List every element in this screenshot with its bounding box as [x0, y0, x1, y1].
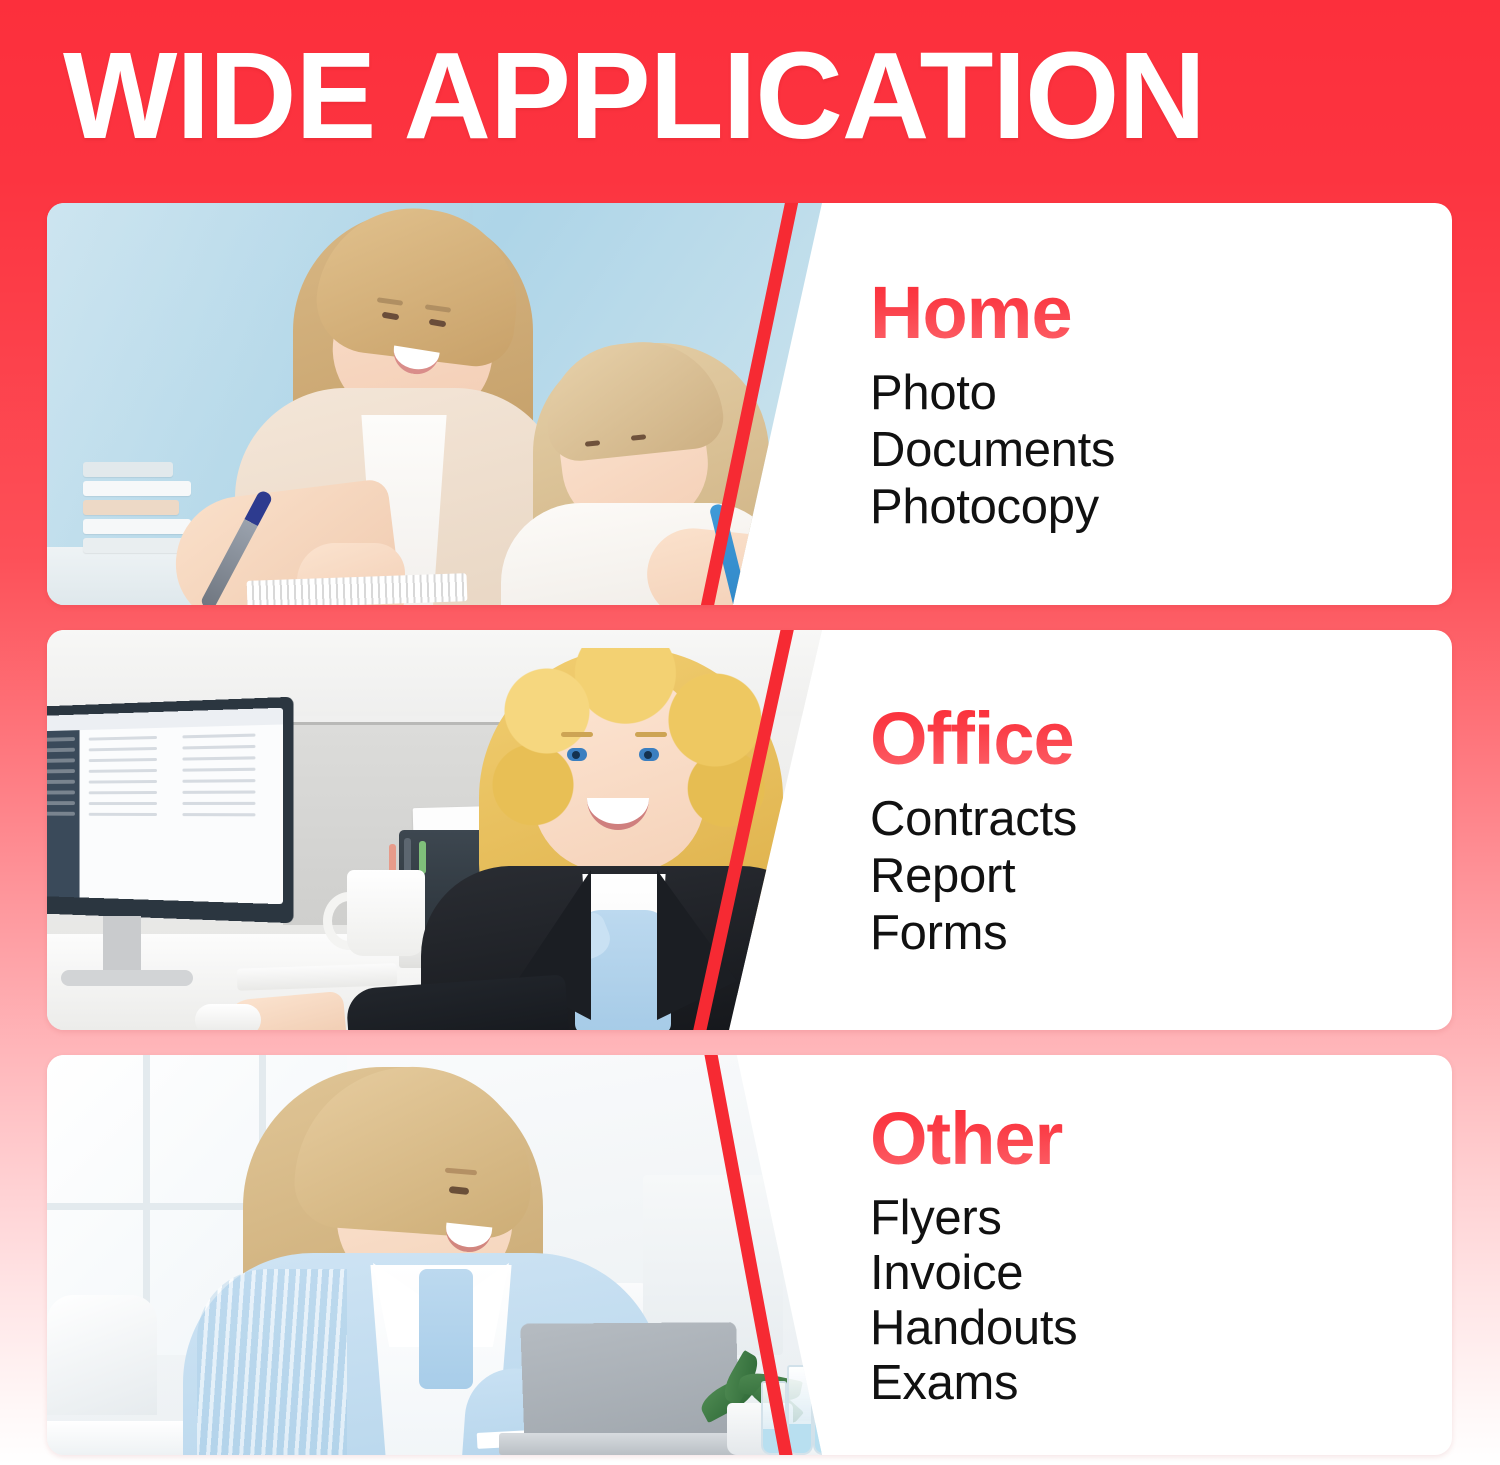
coffee-mug — [347, 870, 425, 956]
card-photo-home — [47, 203, 822, 605]
woman-eye-left — [567, 748, 587, 761]
mouse — [195, 1004, 261, 1030]
poster-header: WIDE APPLICATION — [0, 0, 1500, 195]
list-item: Report — [870, 848, 1452, 905]
list-item: Exams — [870, 1356, 1452, 1411]
wide-application-poster: WIDE APPLICATION — [0, 0, 1500, 1465]
application-card-office: Office Contracts Report Forms — [47, 630, 1452, 1030]
blue-shirt — [419, 1269, 473, 1389]
woman-brow-left — [561, 732, 593, 737]
screen-text-column-left — [89, 736, 157, 824]
list-item: Photocopy — [870, 479, 1452, 536]
scene-office — [47, 630, 822, 1030]
monitor-stand — [103, 916, 141, 974]
pen-cup — [385, 834, 441, 874]
card-info-home: Home Photo Documents Photocopy — [832, 203, 1452, 605]
card-list-other: Flyers Invoice Handouts Exams — [870, 1191, 1452, 1411]
card-info-office: Office Contracts Report Forms — [832, 630, 1452, 1030]
list-item: Handouts — [870, 1301, 1452, 1356]
card-list-home: Photo Documents Photocopy — [870, 365, 1452, 536]
card-list-office: Contracts Report Forms — [870, 791, 1452, 962]
woman-eye-right — [639, 748, 659, 761]
monitor-screen — [47, 708, 283, 904]
application-card-other: Other Flyers Invoice Handouts Exams — [47, 1055, 1452, 1455]
test-tube — [813, 1347, 822, 1455]
lab-chair — [47, 1295, 157, 1415]
list-item: Forms — [870, 905, 1452, 962]
list-item: Invoice — [870, 1246, 1452, 1301]
page-title: WIDE APPLICATION — [63, 38, 1205, 156]
list-item: Photo — [870, 365, 1452, 422]
list-item: Flyers — [870, 1191, 1452, 1246]
woman-brow-right — [635, 732, 667, 737]
chair-mesh — [751, 912, 822, 1024]
list-item: Contracts — [870, 791, 1452, 848]
application-card-home: Home Photo Documents Photocopy — [47, 203, 1452, 605]
card-heading-home: Home — [870, 273, 1452, 353]
cardigan-ribbing — [197, 1269, 347, 1455]
card-photo-office — [47, 630, 822, 1030]
screen-sidebar — [47, 730, 80, 897]
card-heading-office: Office — [870, 699, 1452, 779]
card-heading-other: Other — [870, 1099, 1452, 1179]
scene-lab — [47, 1055, 822, 1455]
monitor-foot — [61, 970, 193, 986]
test-tube — [787, 1365, 813, 1455]
card-info-other: Other Flyers Invoice Handouts Exams — [832, 1055, 1452, 1455]
scene-home — [47, 203, 822, 605]
screen-text-column-right — [182, 734, 255, 825]
test-tube — [761, 1381, 787, 1455]
card-photo-other — [47, 1055, 822, 1455]
list-item: Documents — [870, 422, 1452, 479]
